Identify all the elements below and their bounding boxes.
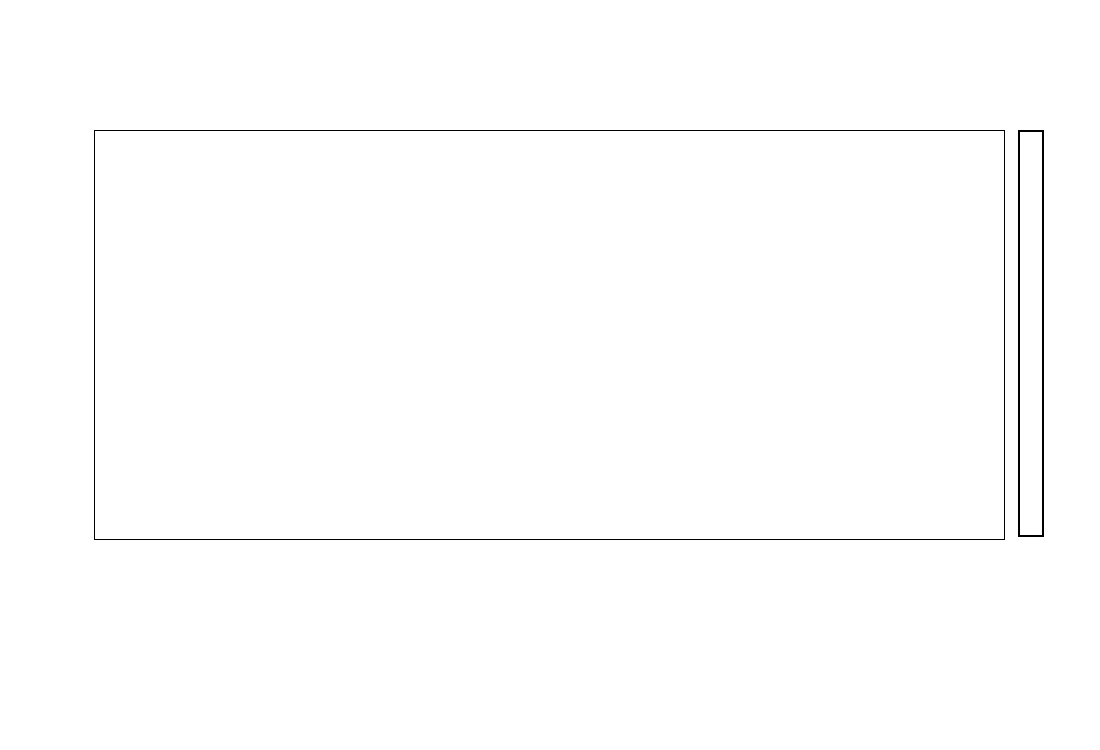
salinity-heatmap-plot[interactable] <box>94 130 1005 540</box>
salinity-colorbar[interactable] <box>1018 130 1044 537</box>
heatmap-canvas <box>95 131 1004 539</box>
colorbar-canvas <box>1020 132 1042 535</box>
current-time-marker <box>306 518 317 529</box>
x-axis-title <box>0 586 1100 608</box>
